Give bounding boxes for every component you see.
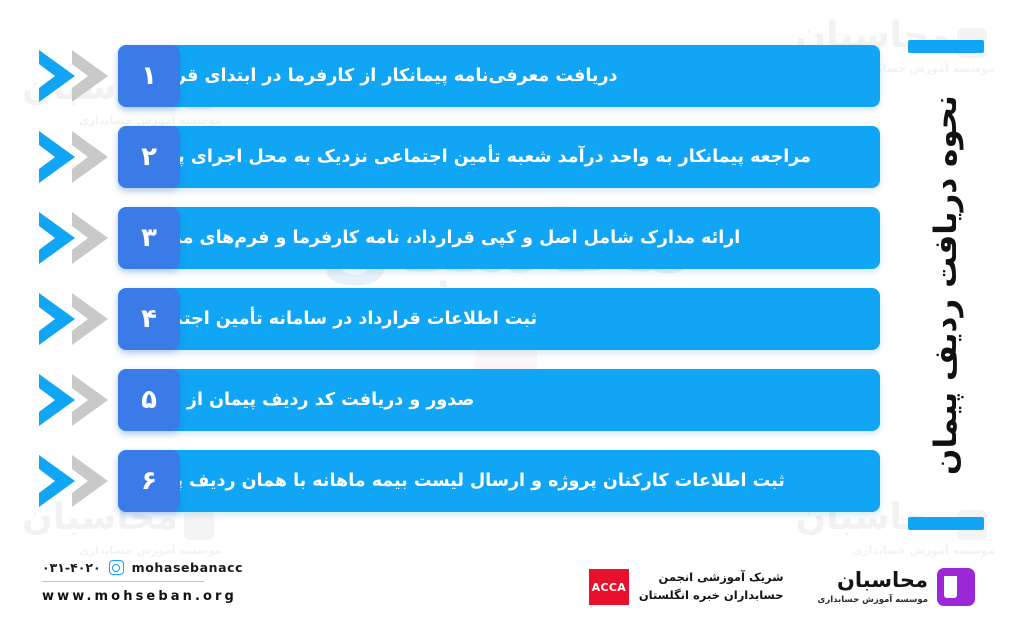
- step-number: ۱: [141, 61, 157, 91]
- step-number-badge: ۵: [118, 369, 180, 431]
- footer-divider: [42, 581, 204, 582]
- footer-logos: محاسبان موسسه آموزش حسابداری شریک آموزشی…: [589, 568, 975, 606]
- acca-logo-text: شریک آموزشی انجمن حسابداران خبره انگلستا…: [639, 569, 784, 605]
- step-bar: ثبت اطلاعات قرارداد در سامانه تأمین اجتم…: [118, 288, 880, 350]
- chevron-blue-icon: [35, 129, 79, 185]
- step-number-badge: ۳: [118, 207, 180, 269]
- step-number: ۵: [141, 385, 157, 415]
- infographic-stage: دریافت معرفی‌نامه پیمانکار از کارفرما در…: [0, 0, 1013, 640]
- mohaseban-logo-text: محاسبان موسسه آموزش حسابداری: [818, 569, 928, 604]
- page-title: نحوه دریافت ردیف پیمان: [928, 53, 964, 517]
- mohaseban-logo: محاسبان موسسه آموزش حسابداری: [818, 568, 975, 606]
- website-url[interactable]: www.mohseban.org: [42, 589, 243, 604]
- chevron-blue-icon: [35, 210, 79, 266]
- acca-line-1: شریک آموزشی انجمن: [639, 569, 784, 587]
- step-text: دریافت معرفی‌نامه پیمانکار از کارفرما در…: [136, 65, 710, 88]
- chevron-blue-icon: [35, 453, 79, 509]
- step-number-badge: ۲: [118, 126, 180, 188]
- step-row: دریافت معرفی‌نامه پیمانکار از کارفرما در…: [28, 45, 880, 107]
- step-bar: دریافت معرفی‌نامه پیمانکار از کارفرما در…: [118, 45, 880, 107]
- step-row: ثبت اطلاعات قرارداد در سامانه تأمین اجتم…: [28, 288, 880, 350]
- instagram-handle[interactable]: mohasebanacc: [132, 560, 244, 575]
- step-text: ثبت اطلاعات کارکنان پروژه و ارسال لیست ب…: [136, 470, 877, 493]
- step-row: مراجعه پیمانکار به واحد درآمد شعبه تأمین…: [28, 126, 880, 188]
- instagram-icon[interactable]: [109, 560, 124, 575]
- step-text: صدور و دریافت کد ردیف پیمان از شعبه: [136, 389, 566, 412]
- step-number: ۶: [141, 466, 157, 496]
- chevron-blue-icon: [35, 372, 79, 428]
- contact-line: ۰۳۱-۴۰۲۰ mohasebanacc: [42, 560, 243, 575]
- step-bar: صدور و دریافت کد ردیف پیمان از شعبه: [118, 369, 880, 431]
- step-number-badge: ۱: [118, 45, 180, 107]
- step-row: ارائه مدارک شامل اصل و کپی قرارداد، نامه…: [28, 207, 880, 269]
- step-row: ثبت اطلاعات کارکنان پروژه و ارسال لیست ب…: [28, 450, 880, 512]
- step-number: ۲: [141, 142, 157, 172]
- title-accent-bar-bottom: [908, 517, 984, 530]
- step-text: ثبت اطلاعات قرارداد در سامانه تأمین اجتم…: [136, 308, 629, 331]
- step-text: ارائه مدارک شامل اصل و کپی قرارداد، نامه…: [136, 227, 832, 250]
- step-row: صدور و دریافت کد ردیف پیمان از شعبه ۵: [28, 369, 880, 431]
- footer: ۰۳۱-۴۰۲۰ mohasebanacc www.mohseban.org م…: [0, 548, 1013, 640]
- step-text: مراجعه پیمانکار به واحد درآمد شعبه تأمین…: [136, 146, 903, 169]
- step-number-badge: ۶: [118, 450, 180, 512]
- step-bar: ثبت اطلاعات کارکنان پروژه و ارسال لیست ب…: [118, 450, 880, 512]
- brand-name: محاسبان: [818, 569, 928, 591]
- acca-badge-icon: ACCA: [589, 569, 629, 605]
- mohaseban-mark-icon: [937, 568, 975, 606]
- vertical-title-column: نحوه دریافت ردیف پیمان: [887, 40, 1005, 530]
- acca-logo: شریک آموزشی انجمن حسابداران خبره انگلستا…: [589, 569, 784, 605]
- brand-subtitle: موسسه آموزش حسابداری: [818, 595, 928, 605]
- acca-line-2: حسابداران خبره انگلستان: [639, 587, 784, 605]
- chevron-blue-icon: [35, 291, 79, 347]
- title-accent-bar-top: [908, 40, 984, 53]
- chevron-blue-icon: [35, 48, 79, 104]
- step-number-badge: ۴: [118, 288, 180, 350]
- step-bar: ارائه مدارک شامل اصل و کپی قرارداد، نامه…: [118, 207, 880, 269]
- steps-list: دریافت معرفی‌نامه پیمانکار از کارفرما در…: [28, 45, 880, 531]
- step-bar: مراجعه پیمانکار به واحد درآمد شعبه تأمین…: [118, 126, 880, 188]
- footer-contact: ۰۳۱-۴۰۲۰ mohasebanacc www.mohseban.org: [42, 560, 243, 604]
- step-number: ۴: [141, 304, 157, 334]
- phone-number: ۰۳۱-۴۰۲۰: [42, 560, 101, 575]
- step-number: ۳: [141, 223, 157, 253]
